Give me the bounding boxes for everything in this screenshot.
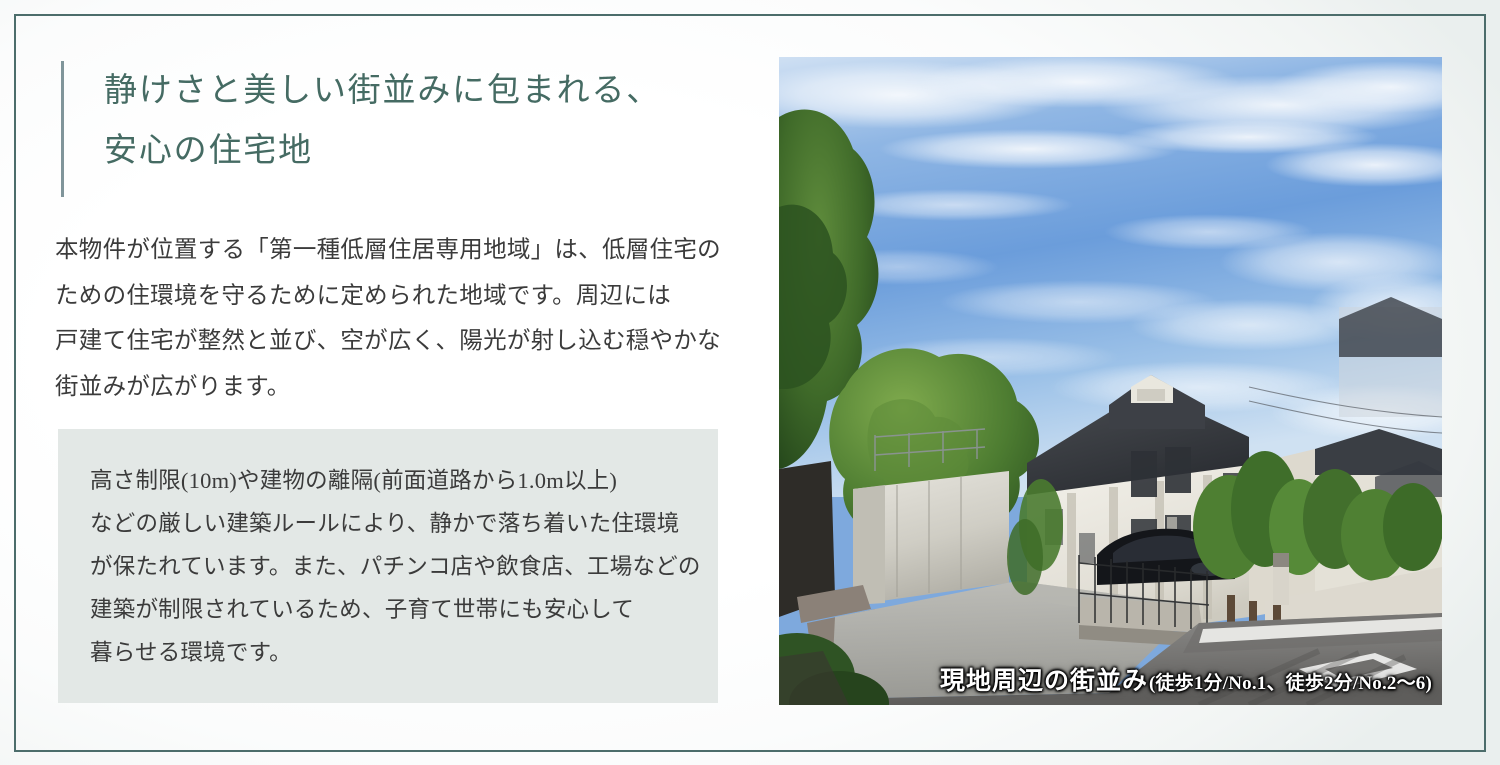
page-root: 静けさと美しい街並みに包まれる、 安心の住宅地 本物件が位置する「第一種低層住居… — [0, 0, 1500, 765]
body-paragraph: 本物件が位置する「第一種低層住居専用地域」は、低層住宅の ための住環境を守るため… — [55, 228, 745, 410]
callout-line-2: などの厳しい建築ルールにより、静かで落ち着いた住環境 — [90, 502, 718, 545]
section-heading: 静けさと美しい街並みに包まれる、 安心の住宅地 — [61, 61, 661, 197]
body-line-4: 街並みが広がります。 — [55, 365, 745, 411]
text-column: 静けさと美しい街並みに包まれる、 安心の住宅地 本物件が位置する「第一種低層住居… — [0, 0, 760, 765]
callout-line-5: 暮らせる環境です。 — [90, 631, 718, 674]
callout-line-1: 高さ制限(10m)や建物の離隔(前面道路から1.0m以上) — [90, 459, 718, 502]
heading-line-2: 安心の住宅地 — [104, 121, 661, 181]
heading-line-1: 静けさと美しい街並みに包まれる、 — [104, 61, 661, 121]
body-line-3: 戸建て住宅が整然と並び、空が広く、陽光が射し込む穏やかな — [55, 319, 745, 365]
body-line-2: ための住環境を守るために定められた地域です。周辺には — [55, 274, 745, 320]
photo-caption-main: 現地周辺の街並み — [940, 661, 1148, 697]
callout-line-4: 建築が制限されているため、子育て世帯にも安心して — [90, 588, 718, 631]
photo-illustration — [779, 57, 1442, 705]
body-line-1: 本物件が位置する「第一種低層住居専用地域」は、低層住宅の — [55, 228, 745, 274]
callout-line-3: が保たれています。また、パチンコ店や飲食店、工場などの — [90, 545, 718, 588]
photo-caption: 現地周辺の街並み (徒歩1分/No.1、徒歩2分/No.2〜6) — [940, 661, 1432, 697]
regulations-callout-box: 高さ制限(10m)や建物の離隔(前面道路から1.0m以上) などの厳しい建築ルー… — [58, 429, 718, 703]
neighborhood-photo: 現地周辺の街並み (徒歩1分/No.1、徒歩2分/No.2〜6) — [779, 57, 1442, 705]
photo-caption-sub: (徒歩1分/No.1、徒歩2分/No.2〜6) — [1149, 668, 1432, 695]
